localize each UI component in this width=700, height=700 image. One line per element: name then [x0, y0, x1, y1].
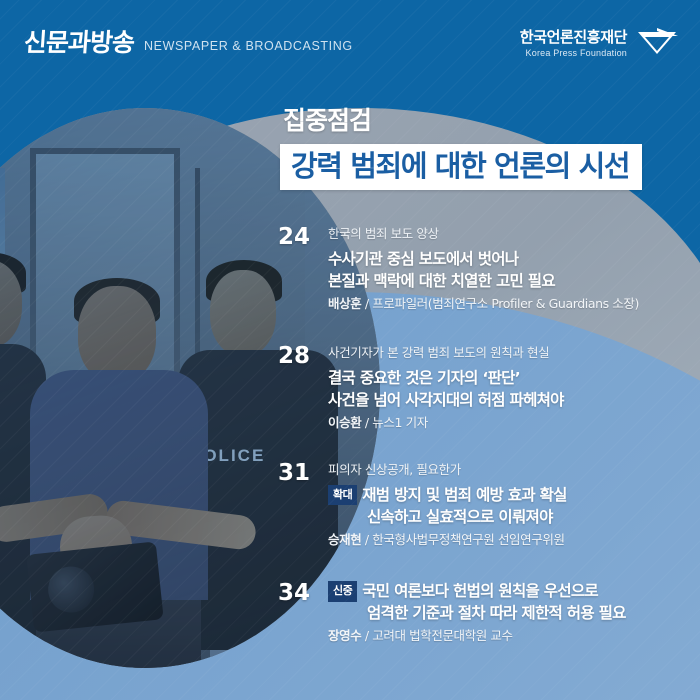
article-headline-line2: 신속하고 실효적으로 이뤄져야: [328, 506, 567, 528]
article-subtitle: 사건기자가 본 강력 범죄 보도의 원칙과 현실: [328, 345, 564, 361]
cover-canvas: POLICE 사 POLICE 신문과방송 NEWSPAPER & BROADC…: [0, 0, 700, 700]
article-subtitle: 피의자 신상공개, 필요한가: [328, 462, 567, 478]
article-headline-line2: 사건을 넘어 사각지대의 허점 파헤쳐야: [328, 389, 564, 411]
status-badge: 확대: [328, 485, 357, 506]
article-headline-line1: 확대재범 방지 및 범죄 예방 효과 확실: [328, 484, 567, 506]
page-number: 24: [250, 226, 310, 249]
article-byline: 배상훈 / 프로파일러(범죄연구소 Profiler & Guardians 소…: [328, 296, 639, 312]
article-author: 이승환: [328, 415, 361, 430]
status-badge: 신중: [328, 581, 357, 602]
article-byline: 승재현 / 한국형사법무정책연구원 선임연구위원: [328, 532, 567, 548]
page-number: 34: [250, 582, 310, 605]
article-headline-line2: 본질과 맥락에 대한 치열한 고민 필요: [328, 270, 639, 292]
article-subtitle: 한국의 범죄 보도 양상: [328, 226, 639, 242]
page-number: 31: [250, 462, 310, 485]
article-headline-line2: 엄격한 기준과 절차 따라 제한적 허용 필요: [328, 602, 626, 624]
page-number: 28: [250, 345, 310, 368]
article-headline-line1: 결국 중요한 것은 기자의 ‘판단’: [328, 367, 564, 389]
article-affiliation: 고려대 법학전문대학원 교수: [372, 628, 512, 643]
article-headline-line1: 수사기관 중심 보도에서 벗어나: [328, 248, 639, 270]
article-byline: 이승환 / 뉴스1 기자: [328, 415, 564, 431]
article-affiliation: 한국형사법무정책연구원 선임연구위원: [372, 532, 564, 547]
article-author: 장영수: [328, 628, 361, 643]
article-byline: 장영수 / 고려대 법학전문대학원 교수: [328, 628, 626, 644]
headline-text: 재범 방지 및 범죄 예방 효과 확실: [362, 486, 566, 504]
headline-text: 국민 여론보다 헌법의 원칙을 우선으로: [362, 582, 598, 600]
article-affiliation: 뉴스1 기자: [372, 415, 428, 430]
article-author: 승재현: [328, 532, 361, 547]
article-author: 배상훈: [328, 296, 361, 311]
article-list: 24 한국의 범죄 보도 양상 수사기관 중심 보도에서 벗어나 본질과 맥락에…: [0, 0, 700, 700]
article-affiliation: 프로파일러(범죄연구소 Profiler & Guardians 소장): [372, 296, 639, 311]
article-headline-line1: 신중국민 여론보다 헌법의 원칙을 우선으로: [328, 580, 626, 602]
